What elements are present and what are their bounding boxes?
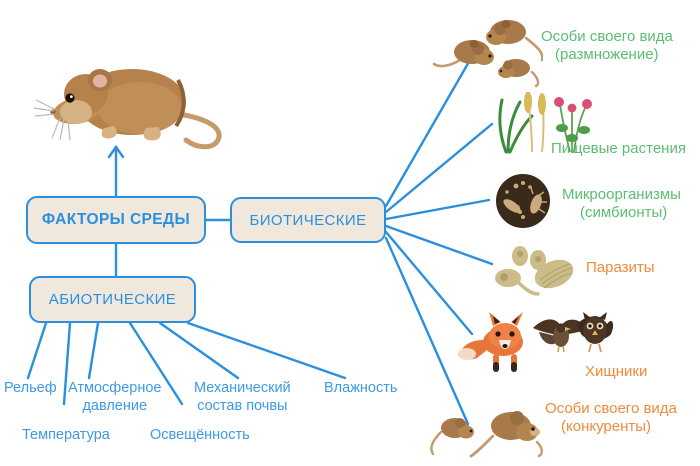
biotic-label-same-species-reproduction: Особи своего вида (размножение) — [541, 28, 673, 65]
node-biotic[interactable]: БИОТИЧЕСКИЕ — [230, 197, 386, 243]
biotic-label-microorganisms-line2: (симбионты) — [580, 204, 681, 222]
biotic-label-same-species-reproduction-line1: Особи своего вида — [541, 28, 673, 46]
abiotic-label-relief: Рельеф — [4, 380, 57, 398]
brown-mouse-icon — [28, 52, 238, 152]
abiotic-label-soil-composition-line2: состав почвы — [194, 398, 291, 416]
two-mice-icon — [425, 398, 545, 460]
biotic-label-same-species-reproduction-line2: (размножение) — [555, 46, 673, 64]
biotic-label-microorganisms-line1: Микроорганизмы — [562, 186, 681, 204]
abiotic-label-temperature: Температура — [22, 427, 110, 445]
biotic-label-same-species-competitors-line2: (конкуренты) — [561, 418, 677, 436]
abiotic-label-atmospheric-pressure: Атмосферное давление — [68, 380, 161, 415]
biotic-label-microorganisms: Микроорганизмы (симбионты) — [562, 186, 681, 223]
diagram-canvas: ФАКТОРЫ СРЕДЫ БИОТИЧЕСКИЕ АБИОТИЧЕСКИЕ Р… — [0, 0, 700, 466]
abiotic-label-illumination: Освещённость — [150, 427, 250, 445]
biotic-label-food-plants: Пищевые растения — [551, 140, 686, 158]
three-mice-icon — [428, 8, 543, 88]
abiotic-label-atmospheric-pressure-line1: Атмосферное — [68, 380, 161, 398]
biotic-label-same-species-competitors: Особи своего вида (конкуренты) — [545, 400, 677, 437]
biotic-label-parasites: Паразиты — [586, 259, 655, 277]
parasites-icon — [492, 244, 582, 300]
abiotic-label-soil-composition: Механический состав почвы — [194, 380, 291, 415]
node-abiotic[interactable]: АБИОТИЧЕСКИЕ — [29, 276, 196, 323]
abiotic-label-atmospheric-pressure-line2: давление — [68, 398, 161, 416]
node-environment-factors[interactable]: ФАКТОРЫ СРЕДЫ — [26, 196, 206, 244]
microorganisms-dish-icon — [492, 172, 554, 230]
abiotic-label-humidity: Влажность — [324, 380, 397, 398]
biotic-label-same-species-competitors-line1: Особи своего вида — [545, 400, 677, 418]
biotic-label-predators: Хищники — [585, 363, 647, 381]
abiotic-label-soil-composition-line1: Механический — [194, 380, 291, 398]
